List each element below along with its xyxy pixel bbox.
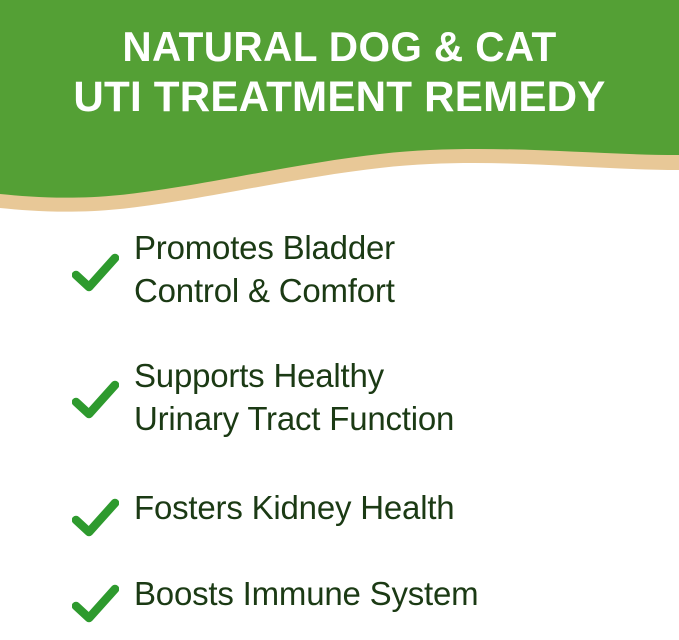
benefit-item-2: Supports Healthy Urinary Tract Function [72,350,659,482]
benefit-2-line-2: Urinary Tract Function [134,397,659,440]
check-icon [72,584,119,624]
check-icon [72,380,119,420]
benefit-3-text: Fosters Kidney Health [134,482,659,529]
banner-wave-graphic [0,0,679,215]
check-icon [72,253,119,293]
product-benefits-poster: NATURAL DOG & CAT UTI TREATMENT REMEDY P… [0,0,679,640]
benefit-4-check-wrap [72,568,134,624]
benefit-3-line-1: Fosters Kidney Health [134,486,659,529]
benefit-4-text: Boosts Immune System [134,568,659,615]
benefit-item-1: Promotes Bladder Control & Comfort [72,222,659,350]
benefit-1-line-1: Promotes Bladder [134,226,659,269]
benefit-1-check-wrap [72,222,134,293]
benefit-item-3: Fosters Kidney Health [72,482,659,568]
benefit-1-text: Promotes Bladder Control & Comfort [134,222,659,312]
benefits-list: Promotes Bladder Control & Comfort Suppo… [0,222,679,640]
benefit-4-line-1: Boosts Immune System [134,572,659,615]
check-icon [72,498,119,538]
benefit-2-line-1: Supports Healthy [134,354,659,397]
benefit-2-check-wrap [72,350,134,420]
benefit-item-4: Boosts Immune System [72,568,659,640]
benefit-1-line-2: Control & Comfort [134,269,659,312]
benefit-2-text: Supports Healthy Urinary Tract Function [134,350,659,440]
header-banner: NATURAL DOG & CAT UTI TREATMENT REMEDY [0,0,679,215]
benefit-3-check-wrap [72,482,134,538]
